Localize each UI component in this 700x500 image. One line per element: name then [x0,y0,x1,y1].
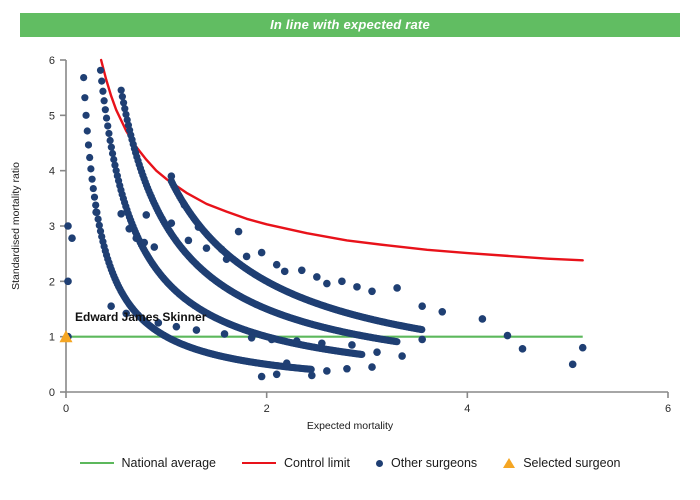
chart-legend: National average Control limit Other sur… [0,456,700,470]
legend-label: Other surgeons [391,456,477,470]
line-swatch-icon [80,462,114,464]
selected-surgeon-annotation: Edward James Skinner [75,310,206,324]
x-axis-title: Expected mortality [0,420,700,432]
x-axis-tick-label: 2 [264,403,270,415]
y-axis-tick-label: 1 [49,332,55,344]
dot-swatch-icon [376,460,383,467]
control-limit-curve [101,60,583,260]
line-swatch-icon [242,462,276,464]
x-axis-tick-label: 0 [63,403,69,415]
y-axis-tick-label: 5 [49,110,55,122]
legend-label: Selected surgeon [523,456,620,470]
legend-item-national-average[interactable]: National average [80,456,217,470]
y-axis-title: Standardised mortality ratio [10,126,22,326]
x-axis-tick-label: 6 [665,403,671,415]
y-axis-tick-label: 6 [49,55,55,67]
y-axis-tick-label: 0 [49,387,55,399]
legend-item-control-limit[interactable]: Control limit [242,456,350,470]
y-axis-tick-label: 4 [49,166,55,178]
triangle-swatch-icon [503,458,515,468]
other-surgeons-points [64,67,586,381]
legend-label: National average [122,456,217,470]
legend-item-selected-surgeon[interactable]: Selected surgeon [503,456,620,470]
legend-item-other-surgeons[interactable]: Other surgeons [376,456,477,470]
legend-label: Control limit [284,456,350,470]
x-axis-tick-label: 4 [464,403,470,415]
y-axis-tick-label: 3 [49,221,55,233]
y-axis-tick-label: 2 [49,276,55,288]
